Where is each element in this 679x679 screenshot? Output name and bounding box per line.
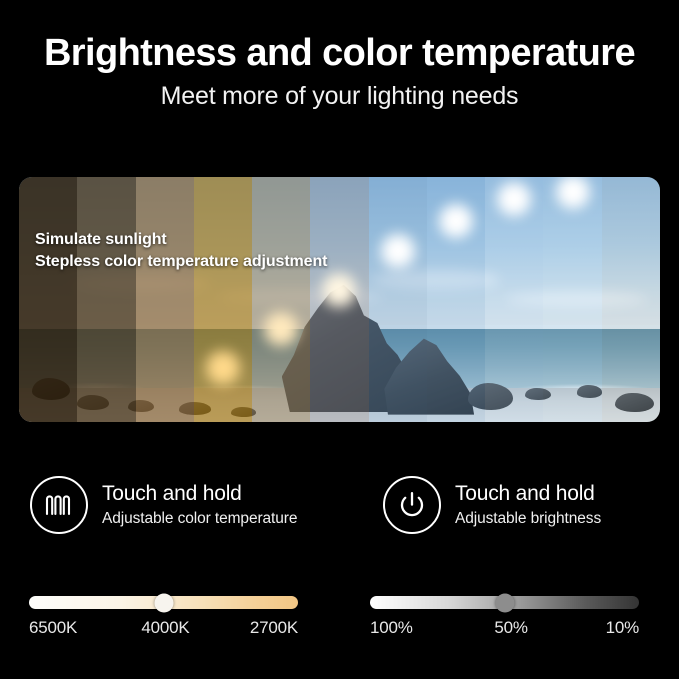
- brightness-slider-track[interactable]: [370, 596, 639, 609]
- color-temperature-band: [77, 177, 135, 422]
- color-temperature-slider-knob[interactable]: [154, 593, 173, 612]
- feature-subtitle: Adjustable brightness: [455, 510, 601, 528]
- slider-row: 6500K 4000K 2700K 100% 50% 10%: [0, 596, 679, 638]
- power-icon: [383, 476, 441, 534]
- band-tint: [77, 177, 135, 422]
- color-temperature-band: [602, 177, 660, 422]
- filament-wave-icon: [30, 476, 88, 534]
- feature-color-temperature[interactable]: Touch and hold Adjustable color temperat…: [30, 476, 370, 534]
- brightness-slider-knob[interactable]: [495, 593, 514, 612]
- feature-text: Touch and hold Adjustable brightness: [455, 482, 601, 527]
- sun-glow: [200, 345, 246, 391]
- page-title: Brightness and color temperature: [0, 34, 679, 74]
- color-temperature-band: [485, 177, 543, 422]
- hero-caption-line-2: Stepless color temperature adjustment: [35, 251, 327, 273]
- color-temperature-band: [136, 177, 194, 422]
- hero-caption: Simulate sunlight Stepless color tempera…: [35, 229, 327, 272]
- hero-image: Simulate sunlight Stepless color tempera…: [19, 177, 660, 422]
- feature-title: Touch and hold: [455, 482, 601, 506]
- color-temperature-band: [194, 177, 252, 422]
- page-subtitle: Meet more of your lighting needs: [0, 82, 679, 111]
- color-temperature-tick-row: 6500K 4000K 2700K: [29, 618, 298, 638]
- color-temperature-slider-group: 6500K 4000K 2700K: [29, 596, 298, 638]
- tick-end: 10%: [606, 618, 639, 638]
- color-temperature-slider-track[interactable]: [29, 596, 298, 609]
- band-tint: [136, 177, 194, 422]
- tick-end: 2700K: [250, 618, 298, 638]
- color-temperature-band: [19, 177, 77, 422]
- tick-middle: 4000K: [141, 618, 189, 638]
- color-temperature-band: [252, 177, 310, 422]
- feature-row: Touch and hold Adjustable color temperat…: [0, 476, 679, 534]
- hero-caption-line-1: Simulate sunlight: [35, 229, 327, 251]
- color-temperature-band: [427, 177, 485, 422]
- tick-start: 100%: [370, 618, 413, 638]
- tick-middle: 50%: [494, 618, 527, 638]
- brightness-slider-group: 100% 50% 10%: [370, 596, 639, 638]
- sun-glow: [375, 228, 421, 274]
- sun-glow: [491, 177, 537, 222]
- band-tint: [19, 177, 77, 422]
- feature-brightness[interactable]: Touch and hold Adjustable brightness: [383, 476, 601, 534]
- sun-glow: [316, 267, 362, 313]
- feature-title: Touch and hold: [102, 482, 297, 506]
- sun-glow: [258, 306, 304, 352]
- feature-text: Touch and hold Adjustable color temperat…: [102, 482, 297, 527]
- band-tint: [252, 177, 310, 422]
- color-temperature-bands: [19, 177, 660, 422]
- brightness-tick-row: 100% 50% 10%: [370, 618, 639, 638]
- band-tint: [602, 177, 660, 422]
- tick-start: 6500K: [29, 618, 77, 638]
- page-header: Brightness and color temperature Meet mo…: [0, 0, 679, 111]
- color-temperature-band: [369, 177, 427, 422]
- band-tint: [369, 177, 427, 422]
- color-temperature-band: [543, 177, 601, 422]
- color-temperature-band: [310, 177, 368, 422]
- sun-glow: [433, 198, 479, 244]
- feature-subtitle: Adjustable color temperature: [102, 510, 297, 528]
